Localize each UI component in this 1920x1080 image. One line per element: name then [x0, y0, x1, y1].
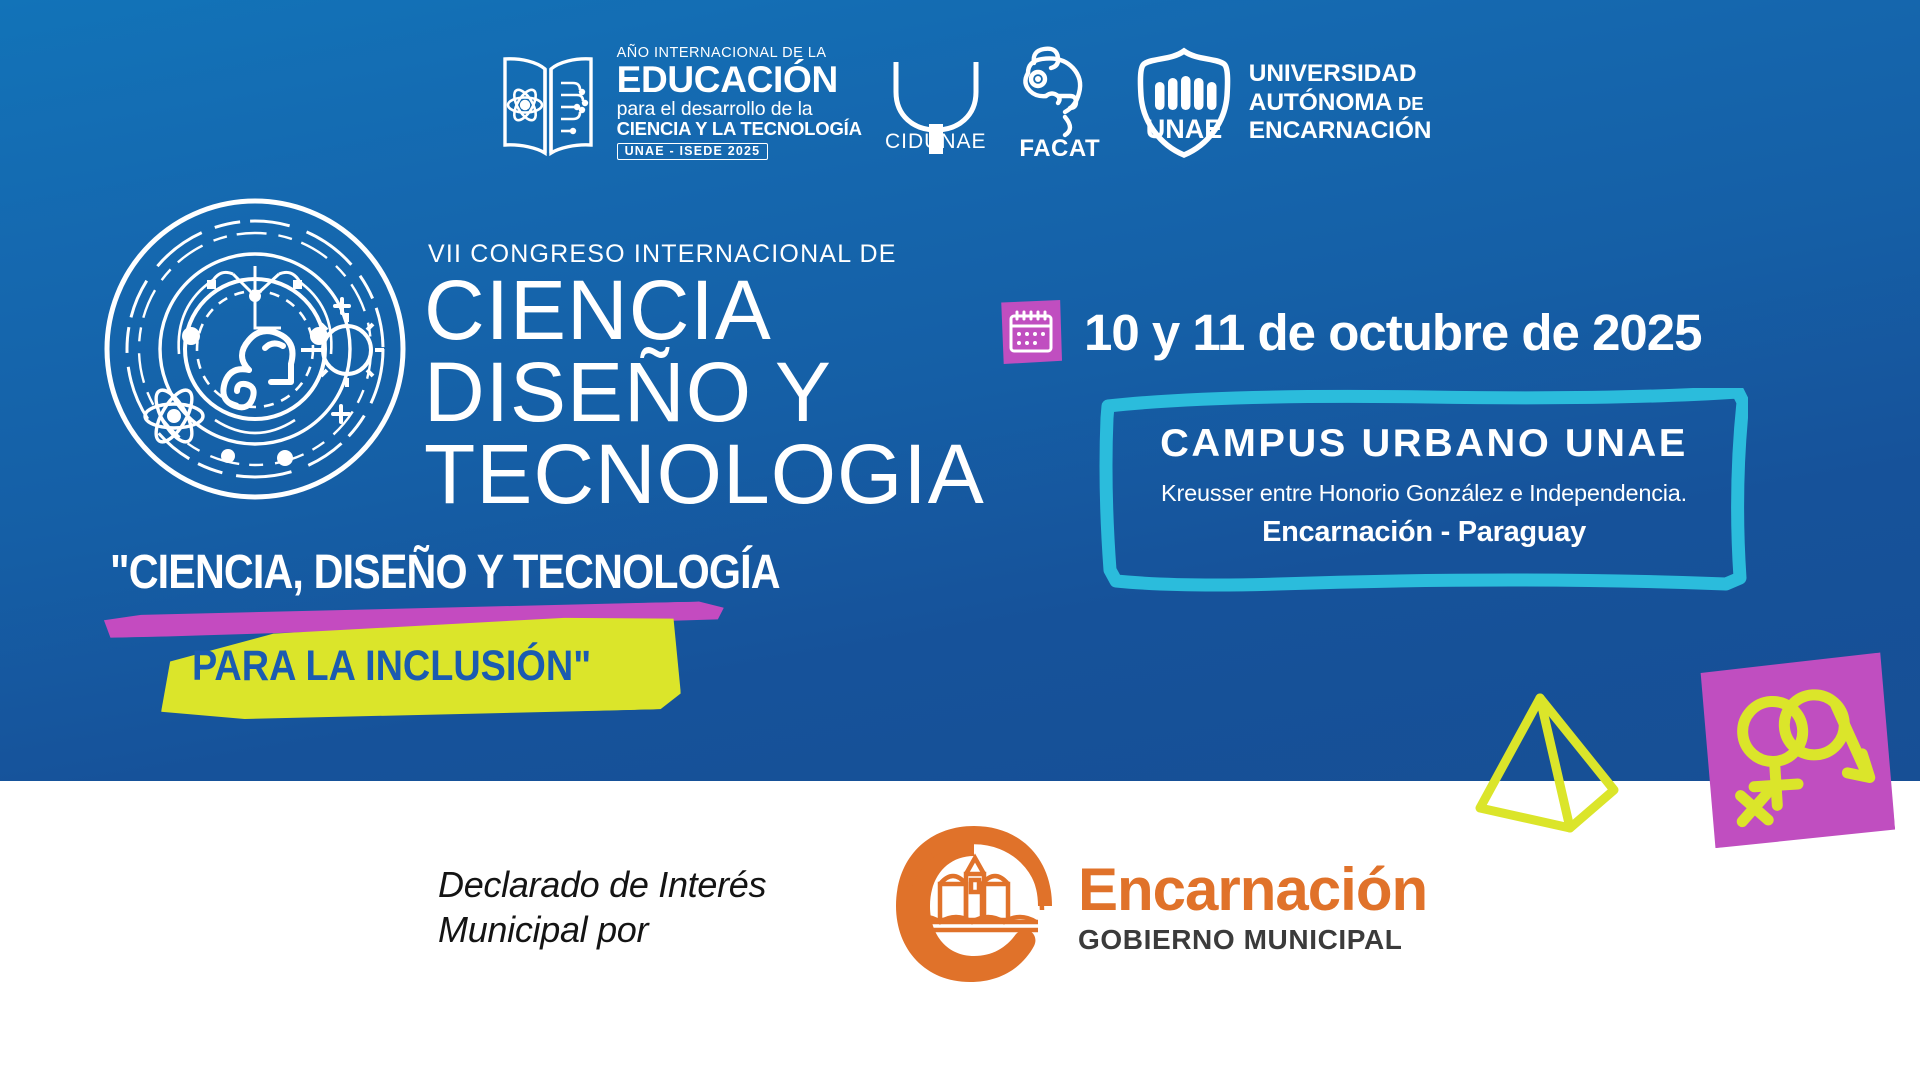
unae-shield-icon: UNAE — [1132, 46, 1236, 160]
municipality-name: Encarnación — [1078, 860, 1427, 920]
gender-symbols-icon — [1707, 667, 1887, 837]
declared-text: Declarado de Interés Municipal por — [438, 862, 858, 953]
edu-logo-badge: UNAE - ISEDE 2025 — [617, 143, 769, 161]
edu-logo-line2: EDUCACIÓN — [617, 61, 862, 99]
calendar-icon — [1008, 309, 1054, 355]
venue-box: CAMPUS URBANO UNAE Kreusser entre Honori… — [1098, 388, 1748, 593]
header-logo-row: AÑO INTERNACIONAL DE LA EDUCACIÓN para e… — [0, 28, 1920, 178]
congress-title: VII CONGRESO INTERNACIONAL DE CIENCIA DI… — [424, 240, 984, 511]
venue-city: Encarnación - Paraguay — [1144, 516, 1704, 549]
logo-cid-unae: CIDUNAE — [884, 52, 988, 154]
chameleon-icon — [1014, 43, 1106, 139]
unae-line3: ENCARNACIÓN — [1249, 117, 1432, 146]
open-book-atom-circuit-icon — [489, 47, 607, 159]
encarnacion-municipality-logo: Encarnación GOBIERNO MUNICIPAL — [888, 818, 1427, 990]
event-date-text: 10 y 11 de octubre de 2025 — [1084, 303, 1702, 362]
municipality-subtitle: GOBIERNO MUNICIPAL — [1078, 924, 1427, 956]
unae-line2: AUTÓNOMA DE — [1249, 89, 1432, 118]
title-line2: DISEÑO Y — [424, 356, 984, 428]
slogan-line2: PARA LA INCLUSIÓN" — [192, 642, 591, 691]
logo-facat: FACAT — [1014, 43, 1106, 163]
congress-tech-circle-emblem-icon — [95, 188, 415, 510]
logo-ano-internacional-educacion: AÑO INTERNACIONAL DE LA EDUCACIÓN para e… — [489, 46, 862, 161]
edu-logo-line4: CIENCIA Y LA TECNOLOGÍA — [617, 120, 862, 139]
unae-line1: UNIVERSIDAD — [1249, 60, 1432, 89]
declared-line1: Declarado de Interés — [438, 862, 858, 907]
facat-label: FACAT — [1019, 135, 1100, 163]
venue-title: CAMPUS URBANO UNAE — [1138, 422, 1709, 466]
cid-unae-label: CIDUNAE — [885, 130, 987, 154]
title-line3: TECNOLOGIA — [424, 438, 984, 510]
pyramid-outline-icon — [1472, 690, 1622, 835]
logo-unae: UNAE UNIVERSIDAD AUTÓNOMA DE ENCARNACIÓN — [1132, 46, 1432, 160]
poster-canvas: AÑO INTERNACIONAL DE LA EDUCACIÓN para e… — [0, 0, 1920, 1080]
venue-address: Kreusser entre Honorio González e Indepe… — [1144, 480, 1704, 507]
svg-text:UNAE: UNAE — [1145, 114, 1222, 144]
declared-line2: Municipal por — [438, 907, 858, 952]
calendar-chip — [1000, 300, 1062, 364]
slogan-line1: "CIENCIA, DISEÑO Y TECNOLOGÍA — [110, 545, 780, 600]
title-line1: CIENCIA — [424, 274, 984, 346]
edu-logo-line1: AÑO INTERNACIONAL DE LA — [617, 46, 862, 61]
encarnacion-e-building-icon — [888, 818, 1060, 990]
edu-logo-line3: para el desarrollo de la — [617, 100, 862, 120]
event-date-row: 10 y 11 de octubre de 2025 — [1000, 300, 1702, 364]
slogan-block: "CIENCIA, DISEÑO Y TECNOLOGÍA PARA LA IN… — [0, 545, 820, 785]
